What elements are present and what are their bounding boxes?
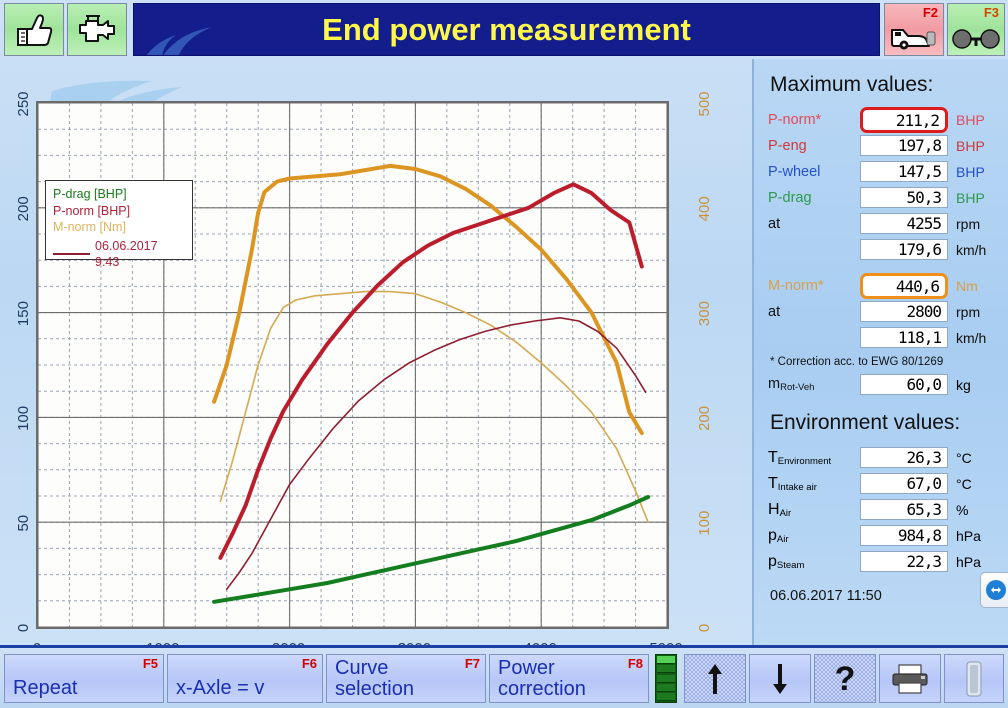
scroll-up-button[interactable]: [684, 654, 746, 703]
power-correction-label: Power correction: [498, 658, 586, 700]
env-label: pSteam: [768, 553, 860, 571]
max-value-unit: rpm: [956, 216, 980, 232]
top-toolbar: End power measurement F2 F3: [0, 0, 1008, 59]
torque-value-row: 118,1km/h: [768, 325, 996, 350]
env-row: TIntake air67,0°C: [768, 471, 996, 496]
max-value-unit: BHP: [956, 190, 985, 206]
torque-value-unit: rpm: [956, 304, 980, 320]
app-window: End power measurement F2 F3: [0, 0, 1008, 708]
env-label: TIntake air: [768, 475, 860, 493]
y-tick-left: 200: [15, 196, 32, 221]
navigate-button[interactable]: [980, 572, 1008, 608]
title-bar: End power measurement: [133, 3, 880, 56]
legend-line-swatch: [53, 253, 90, 255]
y-tick-left: 250: [15, 91, 32, 116]
max-value-label: P-drag: [768, 190, 860, 206]
door-icon: [965, 661, 983, 697]
max-value-unit: km/h: [956, 242, 986, 258]
env-value: 26,3: [860, 447, 948, 468]
torque-value-value: 118,1: [860, 327, 948, 348]
y-tick-right: 300: [696, 301, 713, 326]
axle-icon: [948, 12, 1004, 63]
max-value-row: P-eng197,8BHP: [768, 133, 996, 158]
x-axle-fkey: F6: [302, 656, 317, 671]
max-value-unit: BHP: [956, 164, 985, 180]
mass-row: mRot-Veh 60,0 kg: [768, 372, 996, 397]
legend-item-p-norm: P-norm [BHP]: [53, 203, 185, 220]
curve-selection-button[interactable]: F7 Curve selection: [326, 654, 486, 703]
curve-selection-fkey: F7: [465, 656, 480, 671]
env-row: HAir65,3%: [768, 497, 996, 522]
max-value-value: 147,5: [860, 161, 948, 182]
y-tick-right: 500: [696, 91, 713, 116]
power-correction-button[interactable]: F8 Power correction: [489, 654, 649, 703]
panel-timestamp: 06.06.2017 11:50: [770, 588, 996, 604]
y-tick-right: 400: [696, 196, 713, 221]
curve-m-norm: [214, 166, 642, 433]
x-axle-label: x-Axle = v: [176, 678, 264, 699]
printer-icon: [890, 664, 930, 694]
torque-value-row: M-norm*440,6Nm: [768, 273, 996, 298]
arrow-down-icon: [769, 662, 791, 696]
window-title: End power measurement: [134, 4, 879, 55]
y-axis-right: 0100200300400500: [669, 59, 749, 645]
help-button[interactable]: ?: [814, 654, 876, 703]
curve-p-norm: [220, 184, 641, 558]
arrow-up-icon: [704, 662, 726, 696]
max-value-row: P-wheel147,5BHP: [768, 159, 996, 184]
chart-area: PKE 050100150200250 0100200300400500 010…: [0, 59, 752, 645]
max-value-value: 50,3: [860, 187, 948, 208]
env-row: pAir984,8hPa: [768, 523, 996, 548]
maximum-values-heading: Maximum values:: [770, 73, 996, 97]
torque-value-row: at2800rpm: [768, 299, 996, 324]
led-segment: [657, 656, 675, 664]
repeat-fkey: F5: [143, 656, 158, 671]
torque-value-unit: Nm: [956, 278, 978, 294]
repeat-label: Repeat: [13, 678, 78, 699]
power-correction-fkey: F8: [628, 656, 643, 671]
legend-run-label: 06.06.2017 9:43: [95, 238, 183, 271]
legend-run-row: 06.06.2017 9:43: [53, 238, 185, 271]
engine-button[interactable]: [67, 3, 127, 56]
torque-value-label: M-norm*: [768, 278, 860, 294]
legend-item-m-norm: M-norm [Nm]: [53, 219, 185, 236]
env-row: pSteam22,3hPa: [768, 549, 996, 574]
environment-heading: Environment values:: [770, 411, 996, 435]
y-tick-right: 200: [696, 406, 713, 431]
max-value-label: P-norm*: [768, 112, 860, 128]
torque-value-value: 2800: [860, 301, 948, 322]
max-value-label: at: [768, 216, 860, 232]
led-segment: [657, 675, 675, 683]
thumbs-up-button[interactable]: [4, 3, 64, 56]
led-segment: [657, 693, 675, 701]
max-value-row: P-drag50,3BHP: [768, 185, 996, 210]
max-value-unit: BHP: [956, 138, 985, 154]
max-value-row: P-norm*211,2BHP: [768, 107, 996, 132]
env-value: 65,3: [860, 499, 948, 520]
vehicle-button[interactable]: F2: [884, 3, 944, 56]
env-unit: %: [956, 502, 968, 518]
axle-button[interactable]: F3: [947, 3, 1005, 56]
max-value-label: P-wheel: [768, 164, 860, 180]
torque-value-value: 440,6: [860, 273, 948, 299]
max-value-label: P-eng: [768, 138, 860, 154]
env-unit: °C: [956, 450, 972, 466]
status-led-bar: [655, 654, 677, 703]
mass-unit: kg: [956, 377, 971, 393]
y-tick-left: 150: [15, 301, 32, 326]
max-value-value: 179,6: [860, 239, 948, 260]
torque-value-unit: km/h: [956, 330, 986, 346]
env-unit: hPa: [956, 554, 981, 570]
max-value-unit: BHP: [956, 112, 985, 128]
y-tick-right: 100: [696, 511, 713, 536]
values-panel: Maximum values: P-norm*211,2BHPP-eng197,…: [752, 59, 1008, 645]
x-axle-button[interactable]: F6 x-Axle = v: [167, 654, 323, 703]
repeat-button[interactable]: F5 Repeat: [4, 654, 164, 703]
env-value: 67,0: [860, 473, 948, 494]
toolbar-divider: [0, 645, 1008, 648]
left-right-arrow-icon: [985, 579, 1007, 601]
max-value-row: 179,6km/h: [768, 237, 996, 262]
correction-note: * Correction acc. to EWG 80/1269: [770, 356, 996, 368]
led-segment: [657, 684, 675, 692]
curve-selection-label: Curve selection: [335, 658, 414, 700]
env-unit: hPa: [956, 528, 981, 544]
env-label: pAir: [768, 527, 860, 545]
thumbs-up-icon: [5, 4, 63, 55]
torque-values-list: M-norm*440,6Nmat2800rpm118,1km/h: [768, 273, 996, 350]
env-unit: °C: [956, 476, 972, 492]
engine-icon: [68, 4, 126, 55]
vehicle-icon: [885, 12, 943, 63]
env-value: 22,3: [860, 551, 948, 572]
max-value-value: 211,2: [860, 107, 948, 133]
env-label: HAir: [768, 501, 860, 519]
led-segment: [657, 665, 675, 673]
bottom-toolbar: F5 Repeat F6 x-Axle = v F7 Curve selecti…: [0, 645, 1008, 708]
maximum-values-list: P-norm*211,2BHPP-eng197,8BHPP-wheel147,5…: [768, 107, 996, 262]
max-value-value: 197,8: [860, 135, 948, 156]
mass-value: 60,0: [860, 374, 948, 395]
env-value: 984,8: [860, 525, 948, 546]
mass-label: mRot-Veh: [768, 376, 860, 393]
curve-p-drag: [214, 497, 648, 602]
y-axis-left: 050100150200250: [0, 59, 36, 645]
max-value-row: at4255rpm: [768, 211, 996, 236]
scroll-down-button[interactable]: [749, 654, 811, 703]
question-mark-icon: ?: [835, 662, 856, 696]
exit-button[interactable]: [944, 654, 1004, 703]
env-label: TEnvironment: [768, 449, 860, 467]
env-row: TEnvironment26,3°C: [768, 445, 996, 470]
max-value-value: 4255: [860, 213, 948, 234]
y-tick-left: 50: [15, 515, 32, 532]
torque-value-label: at: [768, 304, 860, 320]
print-button[interactable]: [879, 654, 941, 703]
legend-item-p-drag: P-drag [BHP]: [53, 186, 185, 203]
y-tick-left: 100: [15, 406, 32, 431]
environment-values-list: TEnvironment26,3°CTIntake air67,0°CHAir6…: [768, 445, 996, 574]
chart-legend: P-drag [BHP] P-norm [BHP] M-norm [Nm] 06…: [45, 180, 193, 260]
